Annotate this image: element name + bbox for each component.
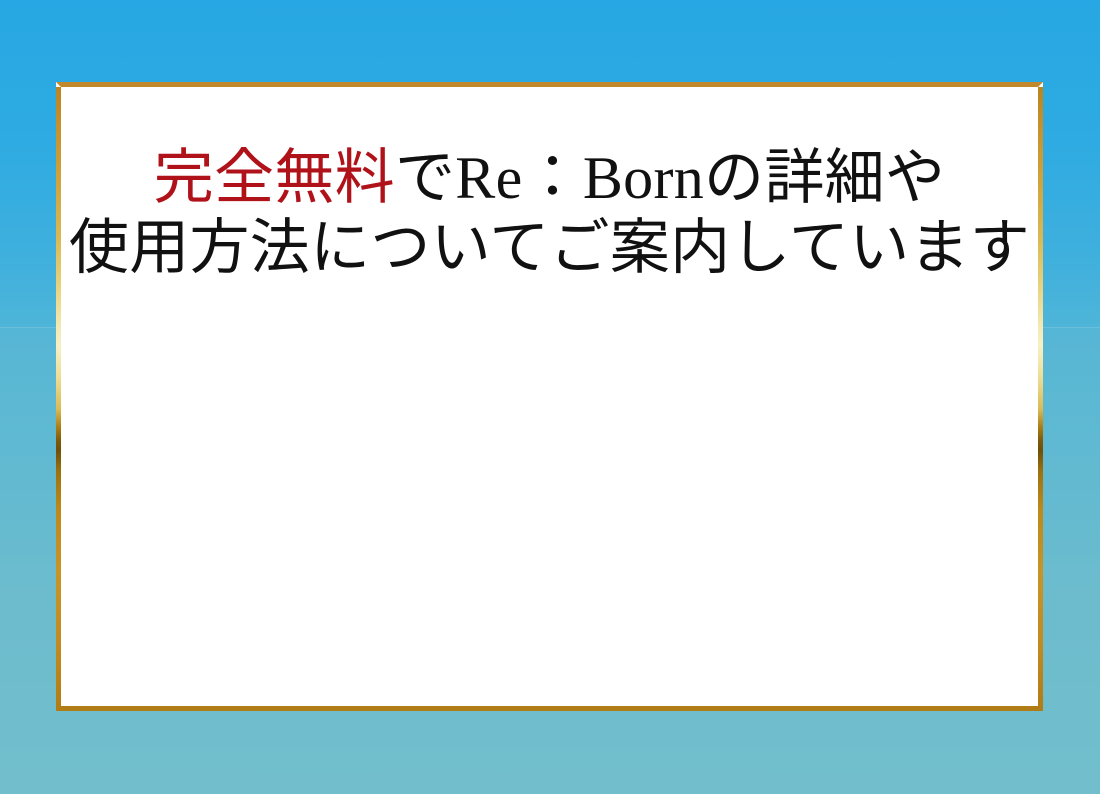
headline-line-2: 使用方法についてご案内しています xyxy=(61,213,1038,283)
slide-stage: 完全無料でRe：Bornの詳細や 使用方法についてご案内しています xyxy=(0,0,1100,794)
headline-block: 完全無料でRe：Bornの詳細や 使用方法についてご案内しています xyxy=(61,143,1038,283)
headline-line-1-rest: でRe：Bornの詳細や xyxy=(395,145,945,211)
headline-highlight-text: 完全無料 xyxy=(154,145,395,211)
card-content-area: 完全無料でRe：Bornの詳細や 使用方法についてご案内しています xyxy=(61,87,1038,706)
headline-line-1: 完全無料でRe：Bornの詳細や xyxy=(61,143,1038,213)
gold-framed-card: 完全無料でRe：Bornの詳細や 使用方法についてご案内しています xyxy=(56,82,1043,711)
